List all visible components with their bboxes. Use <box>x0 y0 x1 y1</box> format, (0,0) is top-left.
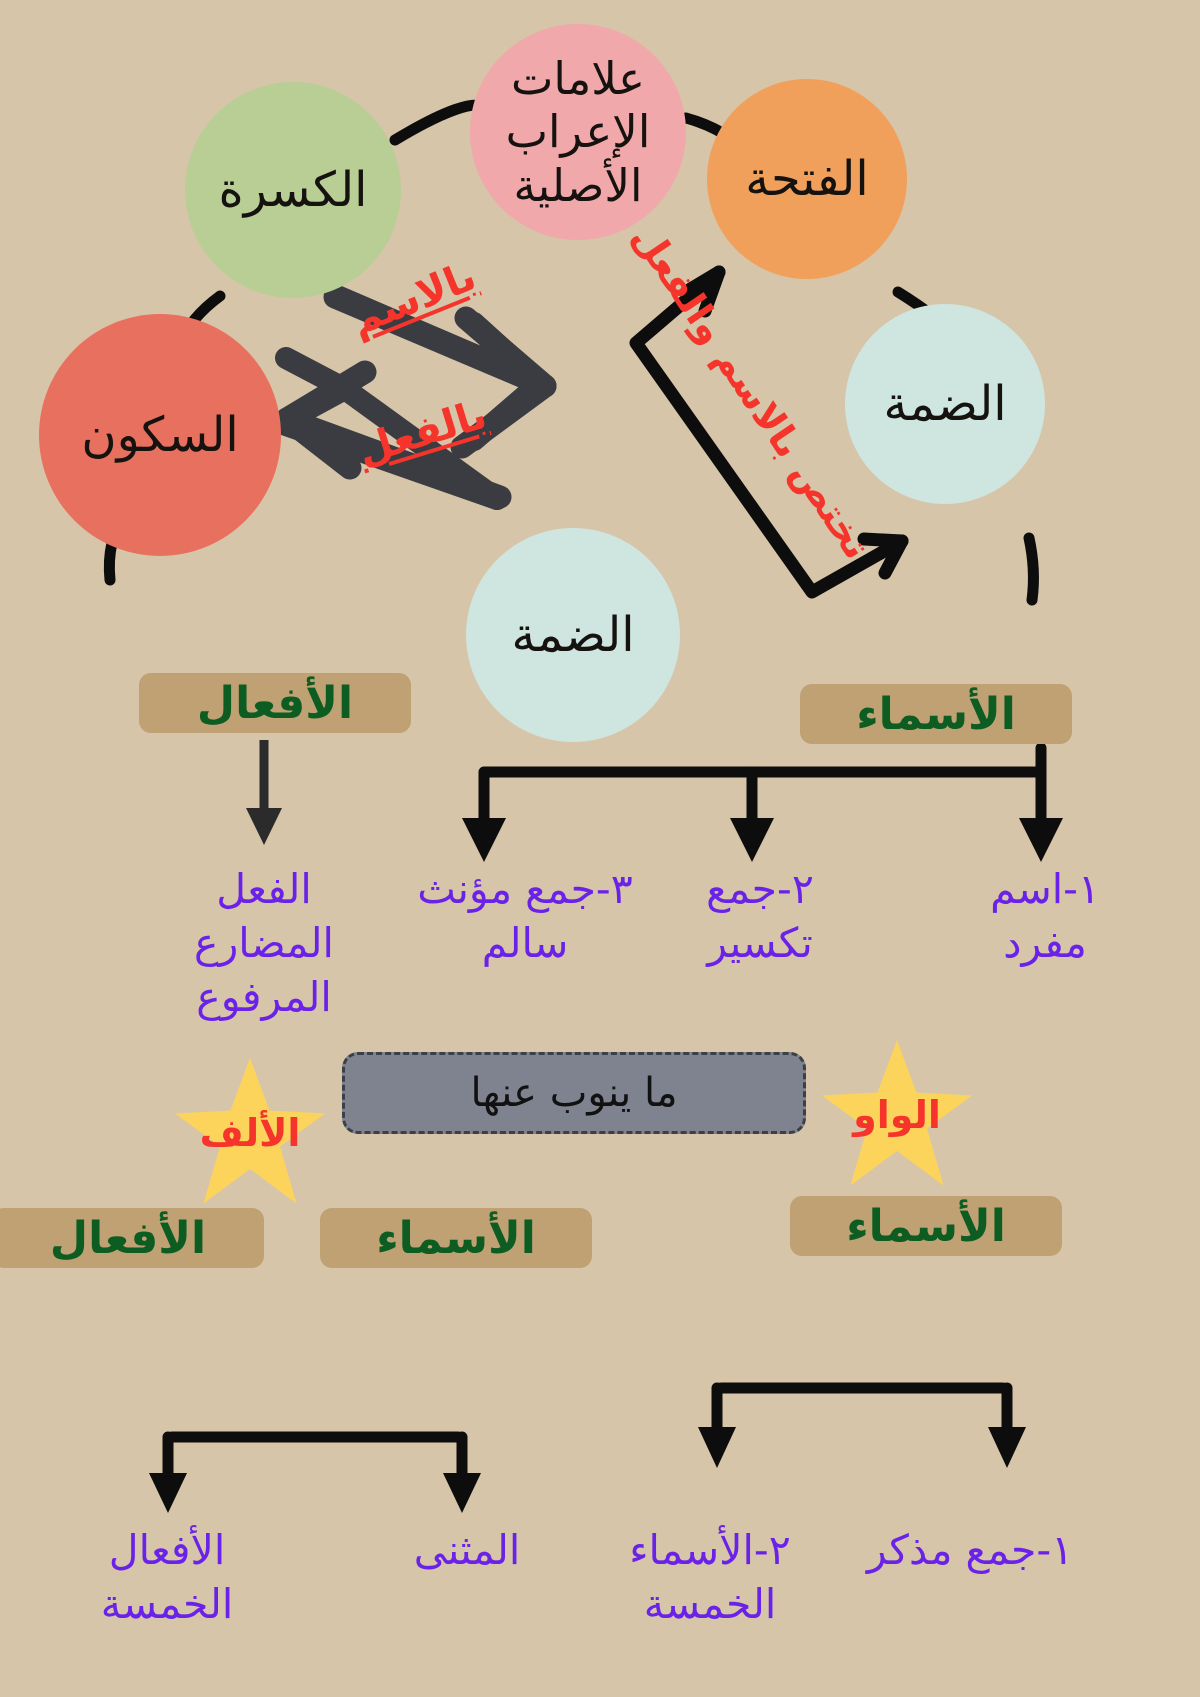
box-what-substitutes[interactable]: ما ينوب عنها <box>342 1052 806 1134</box>
text-broken-plural: ٢-جمع تكسير <box>640 862 880 970</box>
text-present-verb-nominative: الفعل المضارع المرفوع <box>134 862 394 1024</box>
bubble-kasra-label: الكسرة <box>213 162 374 219</box>
pill-verbs-damma[interactable]: الأفعال <box>139 673 411 733</box>
box-what-substitutes-label: ما ينوب عنها <box>470 1070 677 1116</box>
bubble-damma-section[interactable]: الضمة <box>466 528 680 742</box>
pill-verbs-bottom-label: الأفعال <box>50 1213 206 1264</box>
arrow-verbs-damma <box>246 740 282 845</box>
star-waw[interactable]: الواو <box>822 1040 972 1190</box>
tree-nouns-bottom <box>717 1388 1007 1432</box>
pill-nouns-right-bottom[interactable]: الأسماء <box>790 1196 1062 1256</box>
text-singular-noun: ١-اسم مفرد <box>925 862 1165 970</box>
tree-nouns-damma-heads <box>462 818 1063 862</box>
bubble-kasra[interactable]: الكسرة <box>185 82 401 298</box>
star-alif[interactable]: الألف <box>175 1058 325 1208</box>
pill-verbs-damma-label: الأفعال <box>197 678 353 729</box>
pill-nouns-middle-bottom[interactable]: الأسماء <box>320 1208 592 1268</box>
bubble-damma-section-label: الضمة <box>505 607 640 664</box>
text-sound-masculine-plural: ١-جمع مذكر <box>820 1523 1120 1577</box>
pill-verbs-bottom[interactable]: الأفعال <box>0 1208 264 1268</box>
pill-nouns-middle-bottom-label: الأسماء <box>376 1213 536 1264</box>
pill-nouns-right-bottom-label: الأسماء <box>846 1201 1006 1252</box>
pill-nouns-damma-label: الأسماء <box>856 689 1016 740</box>
bubble-damma-label: الضمة <box>877 376 1012 433</box>
bubble-fatha[interactable]: الفتحة <box>707 79 907 279</box>
star-waw-label: الواو <box>822 1040 972 1190</box>
diagram-canvas: علامات الإعراب الأصلية الفتحة الضمة الكس… <box>0 0 1200 1697</box>
bubble-damma[interactable]: الضمة <box>845 304 1045 504</box>
annotation-bil-fil-text: بالفعل <box>352 392 492 475</box>
bidirectional-zigzag-arrow <box>283 296 540 499</box>
arc-sukun-tail <box>109 543 112 580</box>
text-five-verbs: الأفعال الخمسة <box>42 1523 292 1631</box>
text-sound-feminine-plural: ٣-جمع مؤنث سالم <box>390 862 660 970</box>
text-five-nouns: ٢-الأسماء الخمسة <box>585 1523 835 1631</box>
annotation-bil-fil: بالفعل <box>352 392 492 475</box>
bubble-center-original-irab-signs[interactable]: علامات الإعراب الأصلية <box>470 24 686 240</box>
tree-verbs-bottom-heads <box>149 1473 481 1513</box>
star-alif-label: الألف <box>175 1058 325 1208</box>
bubble-sukun[interactable]: السكون <box>39 314 281 556</box>
text-dual: المثنى <box>352 1523 582 1577</box>
pill-nouns-damma[interactable]: الأسماء <box>800 684 1072 744</box>
bubble-center-label: علامات الإعراب الأصلية <box>470 52 686 211</box>
tree-nouns-bottom-heads <box>698 1427 1026 1468</box>
bubble-fatha-label: الفتحة <box>739 151 874 208</box>
connector-layer <box>0 0 1200 1697</box>
zigzag-arrow-overlay <box>287 297 545 497</box>
arc-damma-tail <box>1029 538 1033 600</box>
tree-nouns-damma <box>484 748 1041 825</box>
tree-verbs-bottom <box>168 1437 462 1480</box>
bubble-sukun-label: السكون <box>75 407 244 464</box>
